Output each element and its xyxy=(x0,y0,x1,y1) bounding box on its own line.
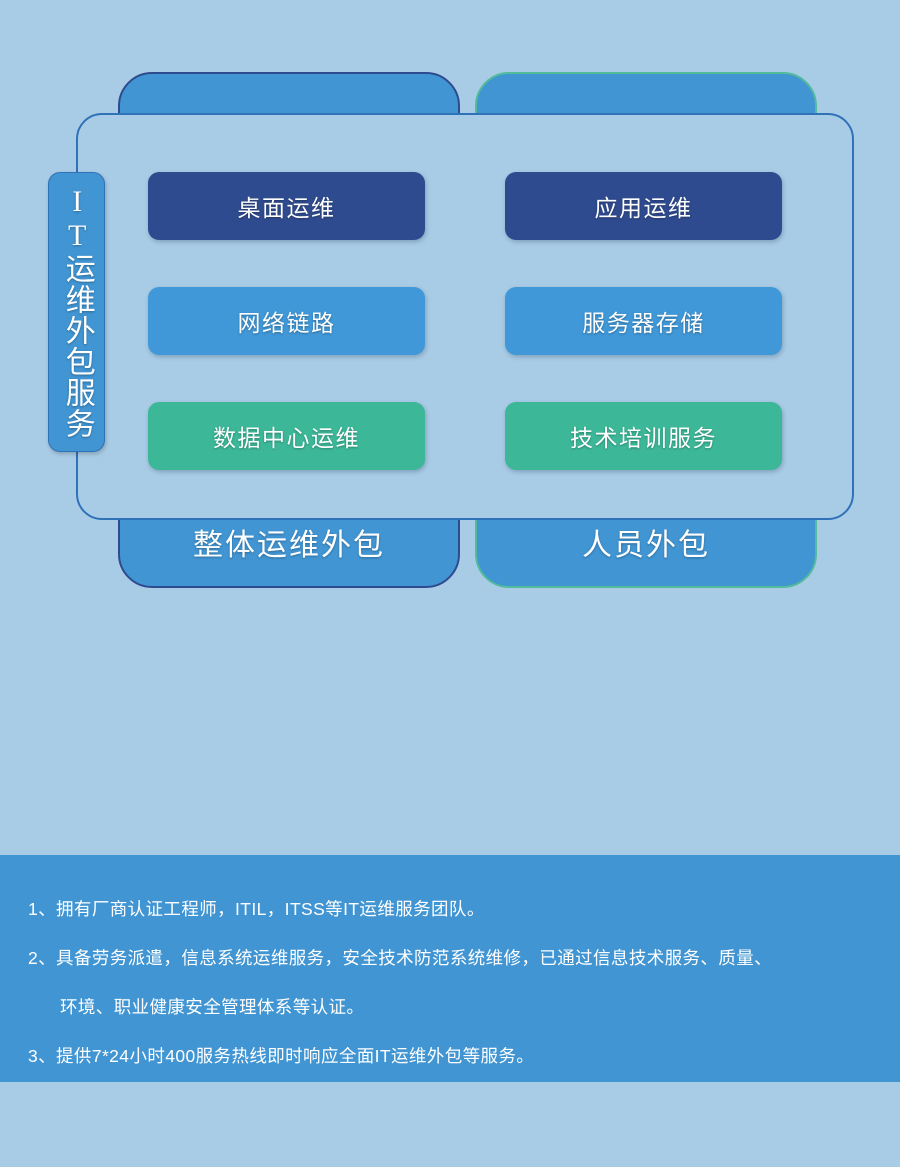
service-item-label: 应用运维 xyxy=(595,189,693,223)
category-tab-label-staff-outsourcing: 人员外包 xyxy=(477,520,815,564)
notes-panel: 1、拥有厂商认证工程师，ITIL，ITSS等IT运维服务团队。 2、具备劳务派遣… xyxy=(0,855,900,1082)
side-label-it-outsourcing-service: IT运维外包服务 xyxy=(48,172,105,452)
service-diagram: 整体运维外包 人员外包 IT运维外包服务 桌面运维 应用运维 网络链路 服务器存… xyxy=(0,0,900,620)
service-item-desktop-ops[interactable]: 桌面运维 xyxy=(148,172,425,240)
category-tab-label-overall-outsourcing: 整体运维外包 xyxy=(120,520,458,564)
service-item-grid: 桌面运维 应用运维 网络链路 服务器存储 数据中心运维 技术培训服务 xyxy=(148,172,782,470)
service-item-label: 桌面运维 xyxy=(238,189,336,223)
service-item-datacenter-ops[interactable]: 数据中心运维 xyxy=(148,402,425,470)
service-item-label: 数据中心运维 xyxy=(213,419,360,453)
service-item-label: 服务器存储 xyxy=(582,304,705,338)
service-item-technical-training[interactable]: 技术培训服务 xyxy=(505,402,782,470)
note-line-3: 3、提供7*24小时400服务热线即时响应全面IT运维外包等服务。 xyxy=(28,1043,900,1068)
service-item-network-link[interactable]: 网络链路 xyxy=(148,287,425,355)
service-item-server-storage[interactable]: 服务器存储 xyxy=(505,287,782,355)
note-line-2: 2、具备劳务派遣，信息系统运维服务，安全技术防范系统维修，已通过信息技术服务、质… xyxy=(28,945,900,970)
note-line-2-continued: 环境、职业健康安全管理体系等认证。 xyxy=(60,994,900,1019)
service-item-application-ops[interactable]: 应用运维 xyxy=(505,172,782,240)
service-item-label: 技术培训服务 xyxy=(570,419,717,453)
service-item-label: 网络链路 xyxy=(238,304,336,338)
note-line-1: 1、拥有厂商认证工程师，ITIL，ITSS等IT运维服务团队。 xyxy=(28,896,900,921)
